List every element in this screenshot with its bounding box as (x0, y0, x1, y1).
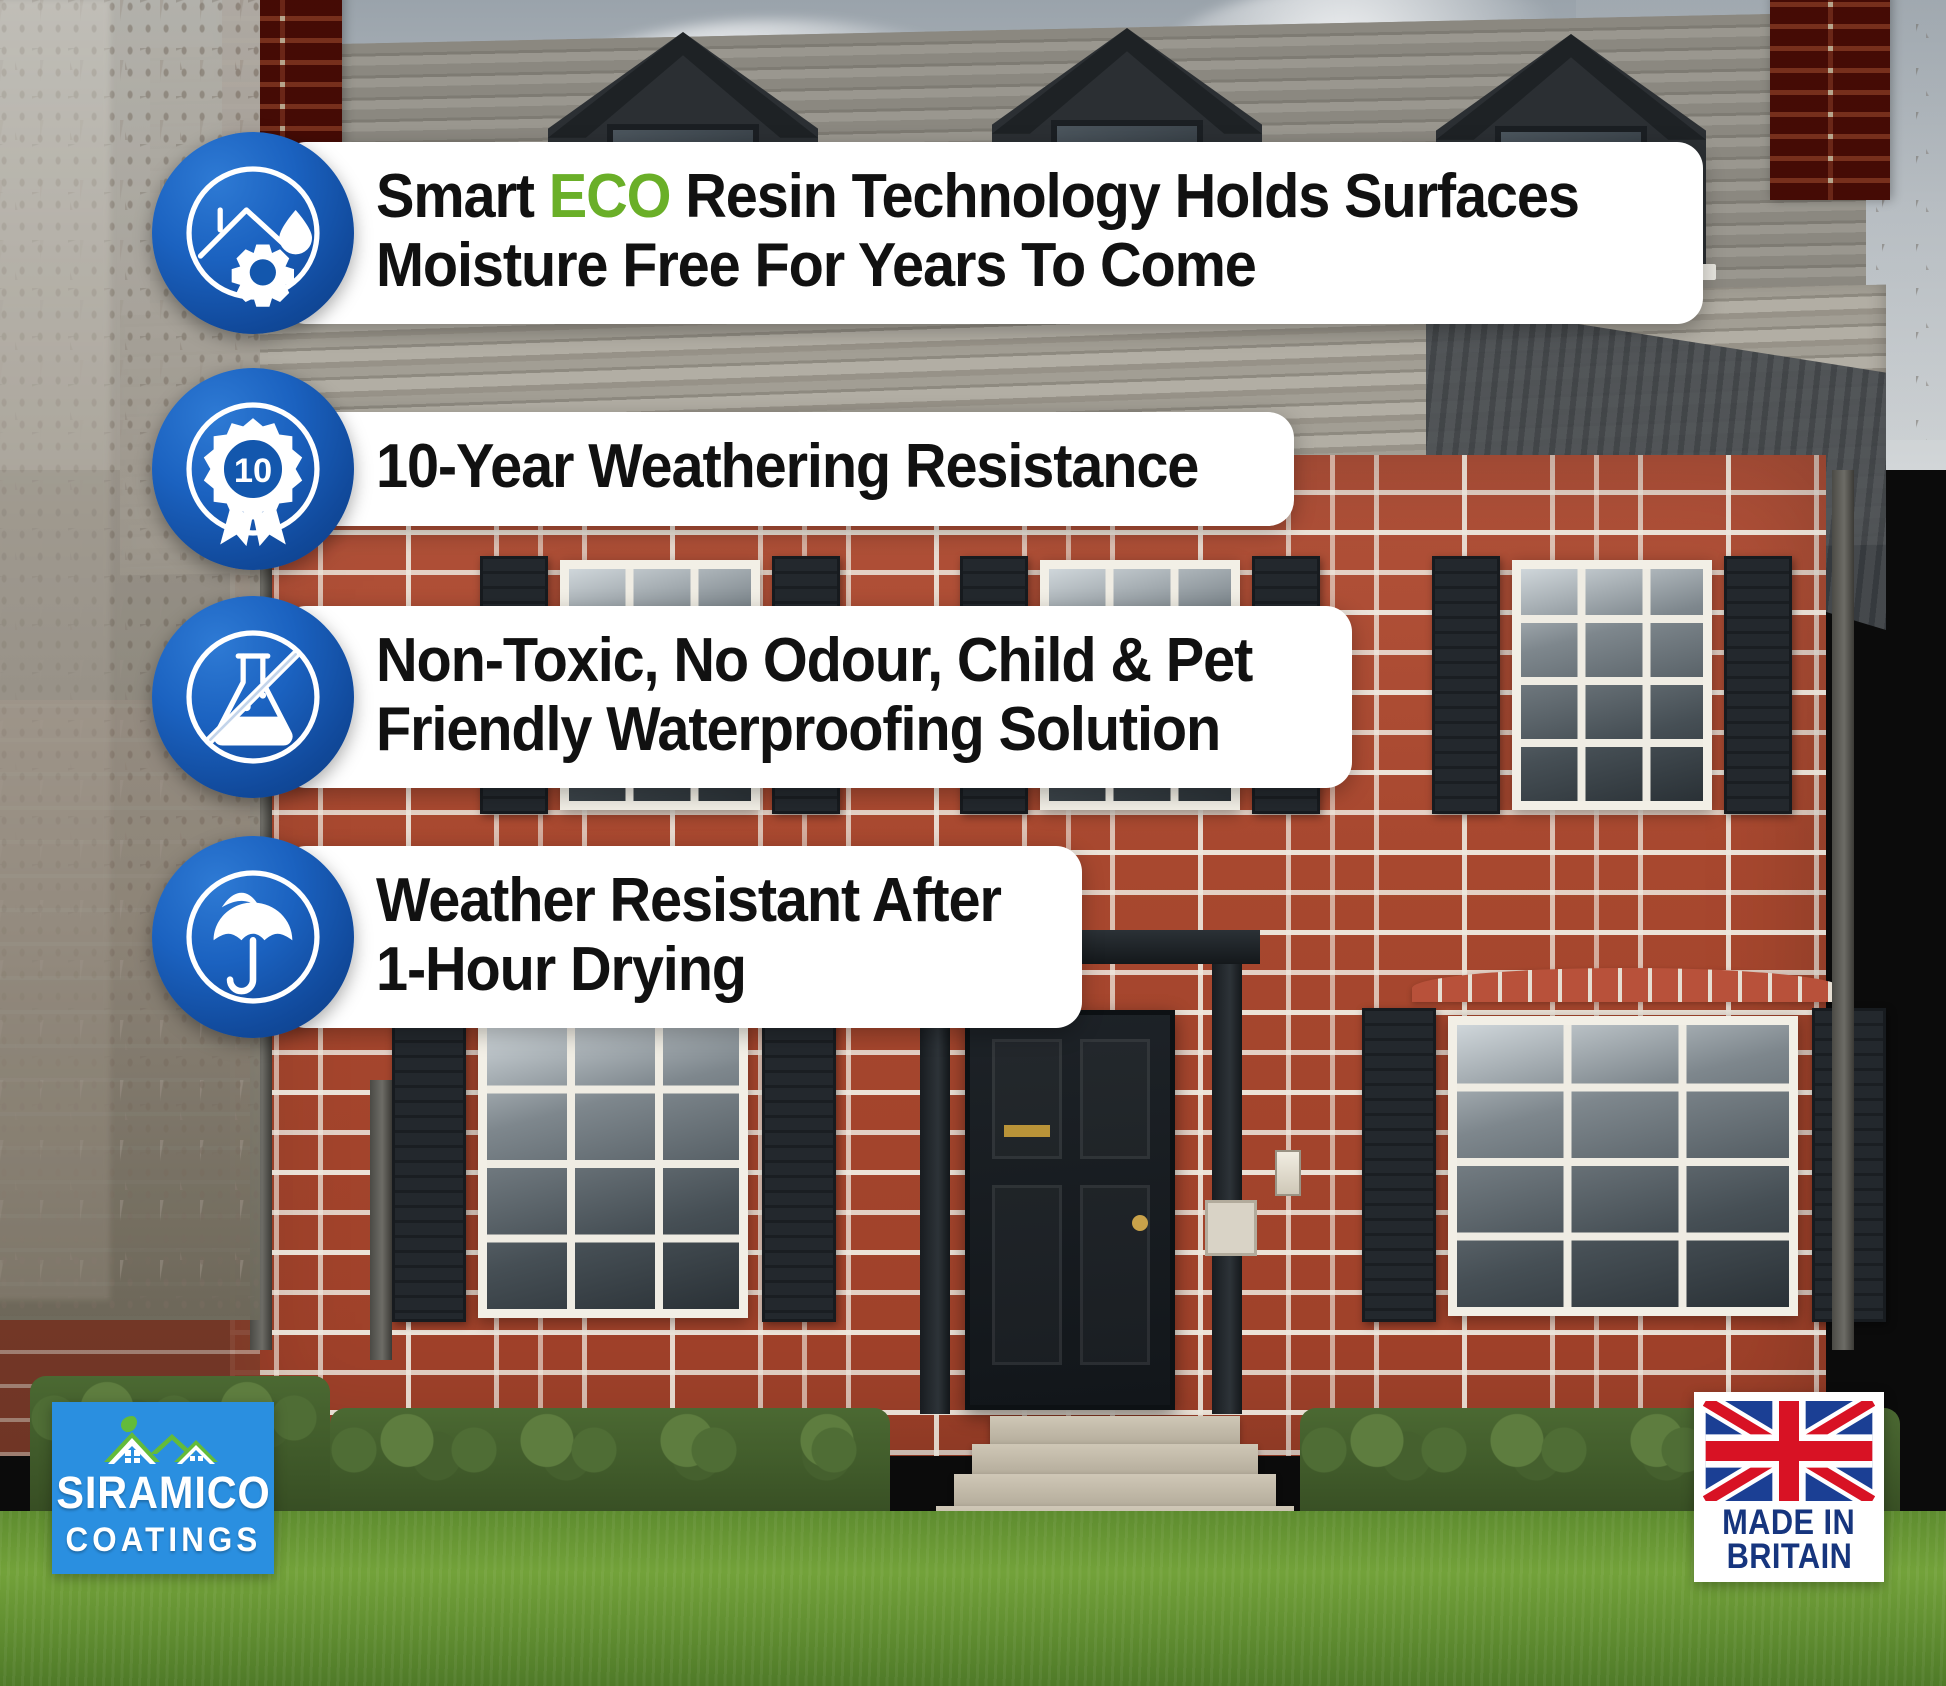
logo-brand-name: SIRAMICO (56, 1470, 270, 1515)
feature-text-non-toxic: Non-Toxic, No Odour, Child & Pet Friendl… (376, 626, 1252, 765)
logo-tagline: COATINGS (65, 1523, 261, 1557)
house-roof-leaf-icon (88, 1414, 238, 1466)
roof-water-drop-gear-icon (152, 132, 354, 334)
siramico-logo[interactable]: SIRAMICO COATINGS (52, 1402, 274, 1574)
feature-row-weathering: 10 10-Year Weathering Resistance (152, 368, 1294, 570)
feature-card-non-toxic: Non-Toxic, No Odour, Child & Pet Friendl… (280, 606, 1352, 789)
feature-card-weathering: 10-Year Weathering Resistance (280, 412, 1294, 525)
made-in-britain-line2: BRITAIN (1726, 1540, 1852, 1574)
award-rosette-10-icon: 10 (152, 368, 354, 570)
made-in-britain-line1: MADE IN (1722, 1506, 1855, 1540)
marketing-image: Smart ECO Resin Technology Holds Surface… (0, 0, 1946, 1686)
made-in-britain-badge: MADE IN BRITAIN (1694, 1392, 1884, 1582)
feature-card-weather-resistant: Weather Resistant After 1-Hour Drying (280, 846, 1082, 1029)
feature-row-non-toxic: Non-Toxic, No Odour, Child & Pet Friendl… (152, 596, 1352, 798)
eco-highlight: ECO (549, 162, 671, 231)
feature-text-weathering: 10-Year Weathering Resistance (376, 432, 1198, 501)
feature-row-eco-resin: Smart ECO Resin Technology Holds Surface… (152, 132, 1703, 334)
union-jack-flag-icon (1703, 1401, 1875, 1501)
feature-card-eco-resin: Smart ECO Resin Technology Holds Surface… (280, 142, 1703, 325)
feature-text-weather-resistant: Weather Resistant After 1-Hour Drying (376, 866, 1001, 1005)
feature-text-eco-resin: Smart ECO Resin Technology Holds Surface… (376, 162, 1579, 301)
feature-list: Smart ECO Resin Technology Holds Surface… (0, 0, 1946, 1686)
badge-number-text: 10 (234, 452, 272, 490)
umbrella-water-drop-icon (152, 836, 354, 1038)
feature-row-weather-resistant: Weather Resistant After 1-Hour Drying (152, 836, 1082, 1038)
no-chemicals-flask-icon (152, 596, 354, 798)
